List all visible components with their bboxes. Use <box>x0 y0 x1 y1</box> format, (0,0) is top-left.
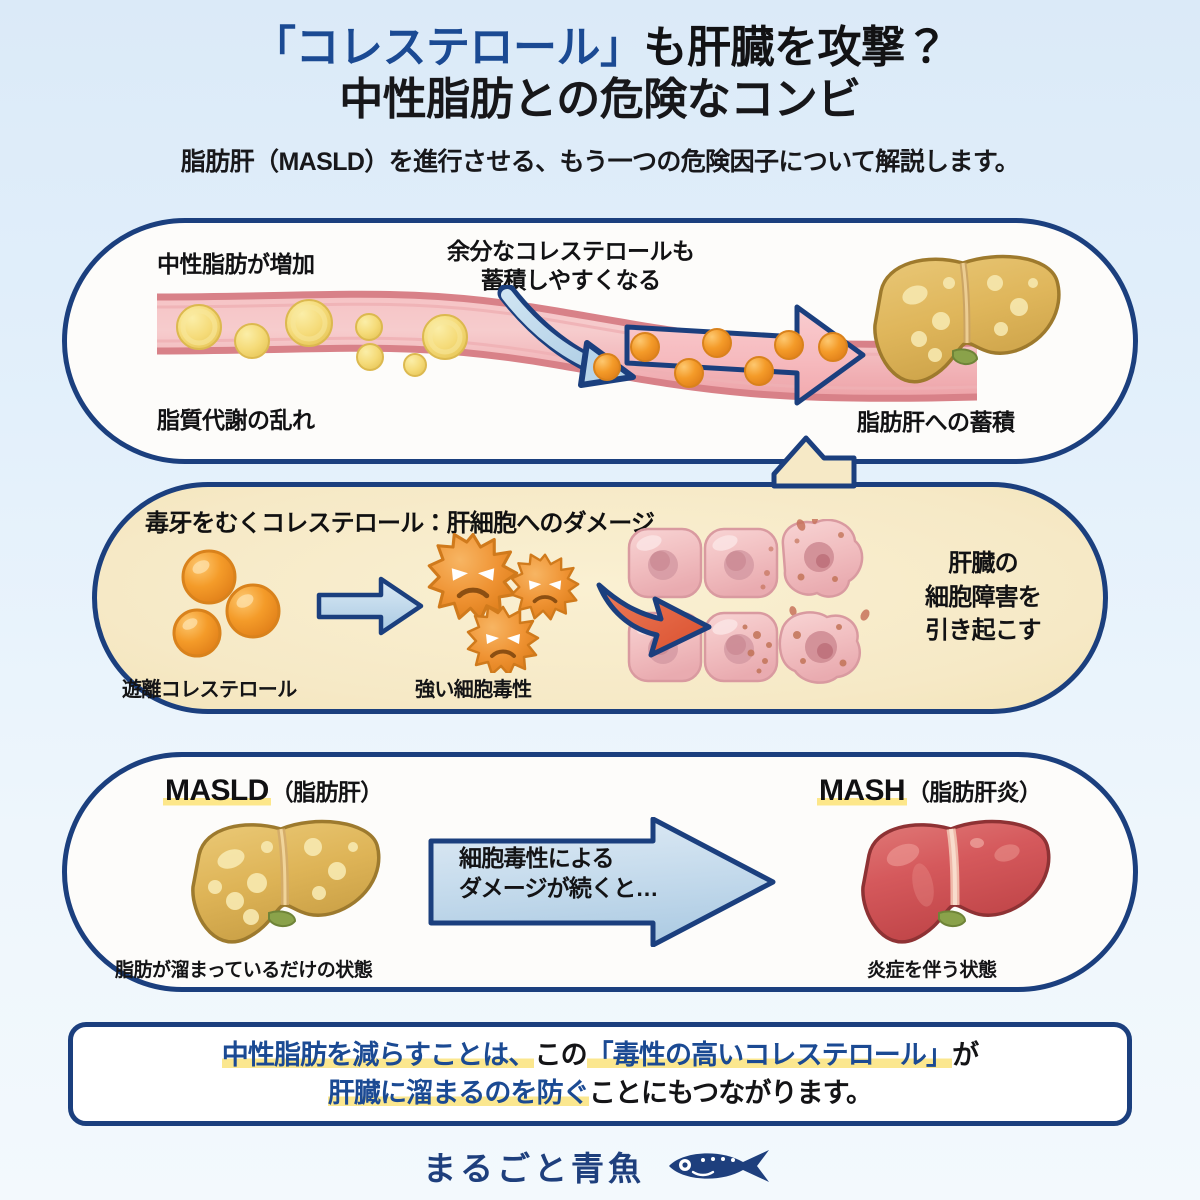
panel1-label-triglyceride-increase: 中性脂肪が増加 <box>157 245 315 279</box>
conclusion-highlight-2: 「毒性の高いコレステロール」 <box>587 1040 952 1070</box>
page-subtitle: 脂肪肝（MASLD）を進行させる、もう一つの危険因子について解説します。 <box>0 142 1200 178</box>
page-header: 「コレステロール」も肝臓を攻撃？ 中性脂肪との危険なコンビ 脂肪肝（MASLD）… <box>0 0 1200 178</box>
masld-jp: （脂肪肝） <box>271 779 383 805</box>
panel-connector-notch <box>770 428 858 490</box>
liver-masld-icon <box>187 813 387 953</box>
fish-icon <box>657 1146 777 1186</box>
panel2-caption-cytotoxicity: 強い細胞毒性 <box>415 673 531 702</box>
mash-jp: （脂肪肝炎） <box>907 779 1041 805</box>
masld-abbr: MASLD <box>163 774 271 807</box>
red-attack-arrow-icon <box>595 579 715 663</box>
footer-brand: まるごと青魚 <box>0 1142 1200 1190</box>
conclusion-plain-3: ことにもつながります。 <box>589 1078 872 1108</box>
progression-arrow-label: 細胞毒性による ダメージが続くと… <box>459 843 658 904</box>
liver-mash-icon <box>857 813 1057 953</box>
conclusion-line-2: 肝臓に溜まるのを防ぐことにもつながります。 <box>328 1074 872 1112</box>
conclusion-highlight-1: 中性脂肪を減らすことは、 <box>222 1040 535 1070</box>
panel-masld-to-mash: MASLD（脂肪肝） MASH（脂肪肝炎） 脂肪が溜まっているだけの状態 炎症を… <box>62 752 1138 992</box>
conclusion-line-1: 中性脂肪を減らすことは、この「毒性の高いコレステロール」が <box>222 1036 978 1074</box>
panel2-caption-free-cholesterol: 遊離コレステロール <box>122 673 297 702</box>
title-quoted-term: 「コレステロール」 <box>252 23 644 72</box>
panel3-caption-mash: 炎症を伴う状態 <box>867 955 997 982</box>
toxic-cholesterol-angry-icons <box>427 533 607 673</box>
mash-abbr: MASH <box>817 774 907 807</box>
title-rest: も肝臓を攻撃？ <box>644 23 949 72</box>
conclusion-plain-1: この <box>534 1040 586 1070</box>
conclusion-highlight-3: 肝臓に溜まるのを防ぐ <box>328 1078 589 1108</box>
panel-cholesterol-toxicity: 毒牙をむくコレステロール：肝細胞へのダメージ 遊離コレステロール 強い細胞毒性 … <box>92 482 1108 714</box>
brand-name: まるごと青魚 <box>423 1142 645 1190</box>
transition-arrow-icon <box>315 575 425 637</box>
page-title-line-1: 「コレステロール」も肝臓を攻撃？ <box>0 22 1200 74</box>
panel-fat-accumulation: 中性脂肪が増加 脂質代謝の乱れ 余分なコレステロールも 蓄積しやすくなる 脂肪肝… <box>62 218 1138 464</box>
panel3-caption-masld: 脂肪が溜まっているだけの状態 <box>115 955 372 982</box>
panel3-title-mash: MASH（脂肪肝炎） <box>817 773 1041 808</box>
blood-vessel-illustration <box>157 285 977 411</box>
conclusion-plain-2: が <box>952 1040 978 1070</box>
page-title-line-2: 中性脂肪との危険なコンビ <box>0 74 1200 126</box>
panel-conclusion: 中性脂肪を減らすことは、この「毒性の高いコレステロール」が 肝臓に溜まるのを防ぐ… <box>68 1022 1132 1126</box>
free-cholesterol-icon <box>157 545 307 665</box>
panel3-title-masld: MASLD（脂肪肝） <box>163 773 383 808</box>
fatty-liver-icon <box>867 247 1067 395</box>
panel2-text-liver-cell-damage: 肝臓の 細胞障害を 引き起こす <box>925 547 1041 648</box>
